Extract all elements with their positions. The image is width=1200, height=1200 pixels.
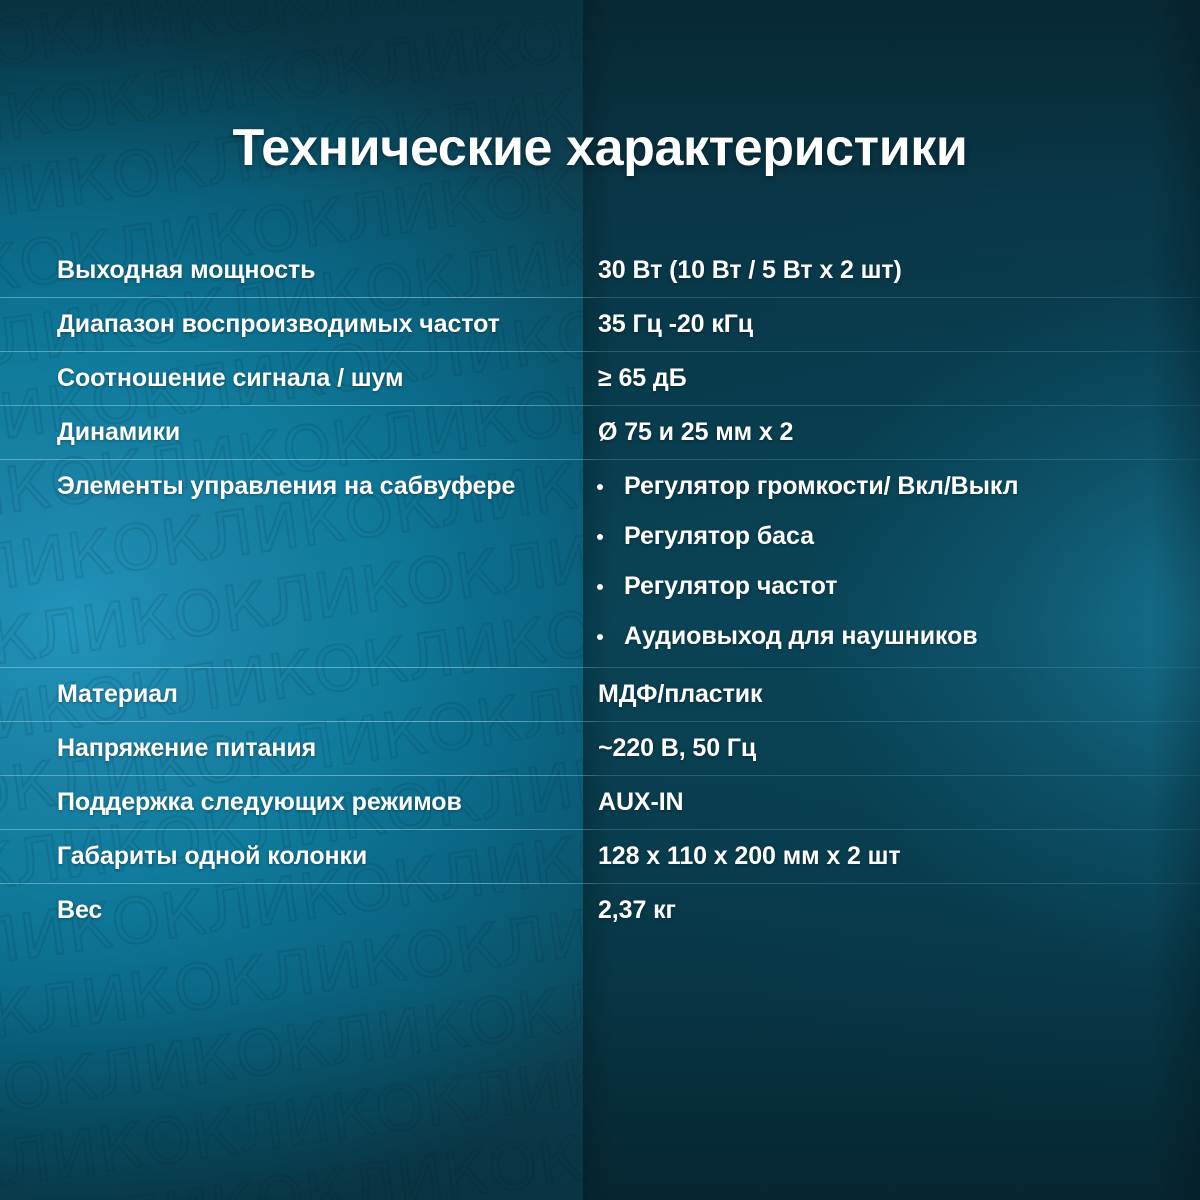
bullet-dot-icon [597,534,603,540]
spec-value: 2,37 кг [562,892,1200,928]
spec-value: ≥ 65 дБ [562,360,1200,396]
spec-label: Соотношение сигнала / шум [0,360,562,396]
spec-label: Поддержка следующих режимов [0,784,562,820]
spec-row: Вес2,37 кг [0,883,1200,937]
spec-row: МатериалМДФ/пластик [0,667,1200,721]
spec-row: Габариты одной колонки128 х 110 х 200 мм… [0,829,1200,883]
spec-value: 128 х 110 х 200 мм х 2 шт [562,838,1200,874]
spec-label: Материал [0,676,562,712]
spec-row: Диапазон воспроизводимых частот35 Гц -20… [0,297,1200,351]
spec-row: Соотношение сигнала / шум≥ 65 дБ [0,351,1200,405]
list-item: Регулятор частот [588,568,1176,604]
page-title: Технические характеристики [0,118,1200,178]
spec-label: Габариты одной колонки [0,838,562,874]
spec-label: Выходная мощность [0,252,562,288]
spec-row: Выходная мощность30 Вт (10 Вт / 5 Вт х 2… [0,243,1200,297]
list-item: Регулятор громкости/ Вкл/Выкл [588,468,1176,504]
list-item-label: Аудиовыход для наушников [624,622,978,650]
list-item-label: Регулятор баса [624,522,814,550]
spec-value: ~220 В, 50 Гц [562,730,1200,766]
spec-row: Поддержка следующих режимовAUX-IN [0,775,1200,829]
spec-value: AUX-IN [562,784,1200,820]
list-item-label: Регулятор громкости/ Вкл/Выкл [624,472,1018,500]
list-item: Регулятор баса [588,518,1176,554]
list-item-label: Регулятор частот [624,572,837,600]
spec-label: Динамики [0,414,562,450]
specifications-table: Выходная мощность30 Вт (10 Вт / 5 Вт х 2… [0,243,1200,937]
spec-value: 30 Вт (10 Вт / 5 Вт х 2 шт) [562,252,1200,288]
spec-label: Вес [0,892,562,928]
bullet-dot-icon [597,584,603,590]
list-item: Аудиовыход для наушников [588,618,1176,654]
spec-value: Ø 75 и 25 мм х 2 [562,414,1200,450]
spec-label: Элементы управления на сабвуфере [0,468,562,504]
spec-label: Диапазон воспроизводимых частот [0,306,562,342]
spec-card: КЛИКОКЛИКОКЛИКОКЛИКОКЛИКОКЛИКОКЛИКОКЛИКО… [0,0,1200,1200]
spec-bullet-list: Регулятор громкости/ Вкл/ВыклРегулятор б… [588,468,1176,654]
spec-value: 35 Гц -20 кГц [562,306,1200,342]
spec-value: МДФ/пластик [562,676,1200,712]
spec-row: Элементы управления на сабвуфереРегулято… [0,459,1200,667]
spec-row: ДинамикиØ 75 и 25 мм х 2 [0,405,1200,459]
spec-row: Напряжение питания~220 В, 50 Гц [0,721,1200,775]
bullet-dot-icon [597,634,603,640]
bullet-dot-icon [597,484,603,490]
spec-value: Регулятор громкости/ Вкл/ВыклРегулятор б… [562,468,1200,658]
spec-label: Напряжение питания [0,730,562,766]
